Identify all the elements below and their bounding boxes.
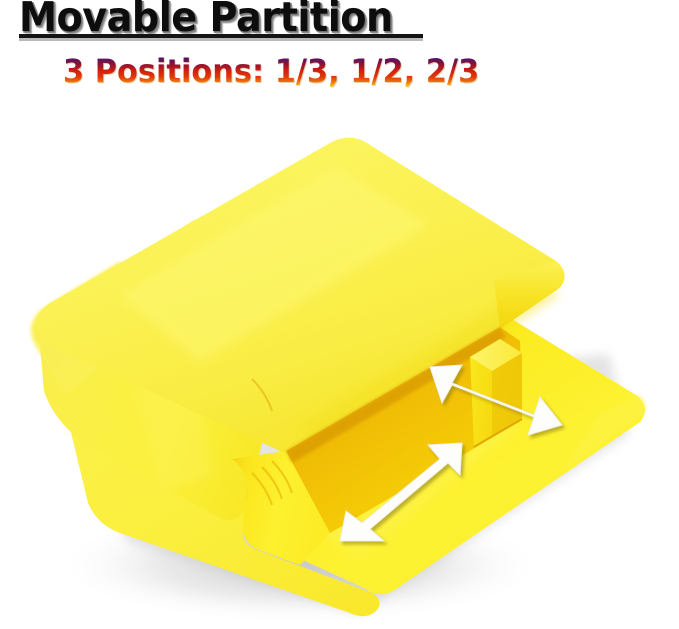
- page-subtitle: 3 Positions: 1/3, 1/2, 2/3: [63, 52, 479, 90]
- page-title: Movable Partition: [19, 0, 393, 38]
- product-illustration: [0, 95, 679, 629]
- header-block: Movable Partition 3 Positions: 1/3, 1/2,…: [0, 0, 679, 95]
- title-underline-rule: [19, 34, 423, 38]
- product-photo: [0, 95, 679, 629]
- screenshot-canvas: Movable Partition 3 Positions: 1/3, 1/2,…: [0, 0, 679, 629]
